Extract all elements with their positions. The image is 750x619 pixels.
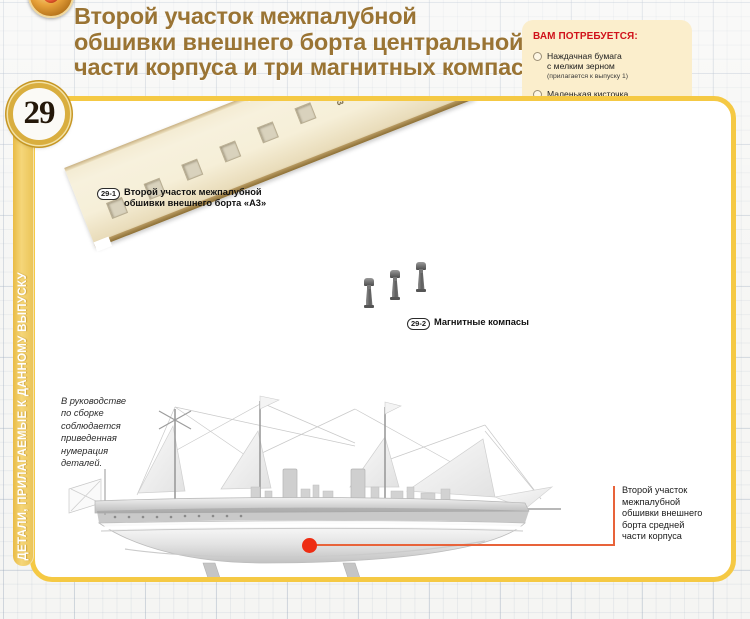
- ship-model-photo: [55, 391, 575, 581]
- parts-illustration: A3 29-1 Второй участок межпалубной обшив…: [35, 101, 595, 381]
- callout-hull-plank-text: Второй участок межпалубной обшивки внешн…: [124, 187, 266, 209]
- material-item-line: с мелким зерном: [547, 61, 628, 71]
- issue-number-text: 29: [24, 97, 55, 130]
- annotation-leader-riser: [613, 486, 615, 545]
- ship-annotation-line-4: борта средней: [622, 520, 742, 532]
- hull-plank-photo: A3: [80, 113, 500, 323]
- hull-plank-body: A3: [64, 96, 475, 248]
- ship-model-drawing: [55, 391, 575, 581]
- material-item[interactable]: Наждачная бумагас мелким зерном(прилагае…: [533, 51, 680, 81]
- ship-annotation-line-2: межпалубной: [622, 497, 742, 509]
- magnetic-compass-2: [390, 270, 400, 300]
- ship-annotation-line-1: Второй участок: [622, 485, 742, 497]
- sidebar-vertical-label-wrap: ДЕТАЛИ, ПРИЛАГАЕМЫЕ К ДАННОМУ ВЫПУСКУ: [13, 96, 34, 566]
- magnetic-compass-3: [416, 262, 426, 292]
- ship-annotation: Второй участок межпалубной обшивки внешн…: [622, 485, 742, 543]
- material-item-line: Наждачная бумага: [547, 51, 628, 61]
- material-item-text: Наждачная бумагас мелким зерном(прилагае…: [547, 51, 628, 81]
- callout-compasses-text: Магнитные компасы: [434, 317, 529, 328]
- issue-number-badge: 29: [8, 83, 70, 145]
- checkbox-circle-icon[interactable]: [533, 52, 542, 61]
- callout-magnetic-compasses: 29-2 Магнитные компасы: [407, 317, 577, 330]
- part-ref-chip: 29-2: [407, 318, 430, 330]
- materials-card-title: ВАМ ПОТРЕБУЕТСЯ:: [533, 31, 680, 42]
- callout-line-1: Второй участок межпалубной: [124, 187, 262, 197]
- hull-section-marker-dot: [302, 538, 317, 553]
- callout-hull-plank: 29-1 Второй участок межпалубной обшивки …: [97, 187, 337, 209]
- ship-annotation-line-3: обшивки внешнего: [622, 508, 742, 520]
- sidebar-vertical-label: ДЕТАЛИ, ПРИЛАГАЕМЫЕ К ДАННОМУ ВЫПУСКУ: [18, 272, 30, 560]
- ship-annotation-line-5: части корпуса: [622, 531, 742, 543]
- magnetic-compass-1: [364, 278, 374, 308]
- part-ref-chip: 29-1: [97, 188, 120, 200]
- page-root: Второй участок межпалубной обшивки внешн…: [0, 0, 750, 619]
- material-item-subnote: (прилагается к выпуску 1): [547, 72, 628, 81]
- callout-line-2: обшивки внешнего борта «А3»: [124, 198, 266, 208]
- annotation-leader-line: [312, 544, 615, 546]
